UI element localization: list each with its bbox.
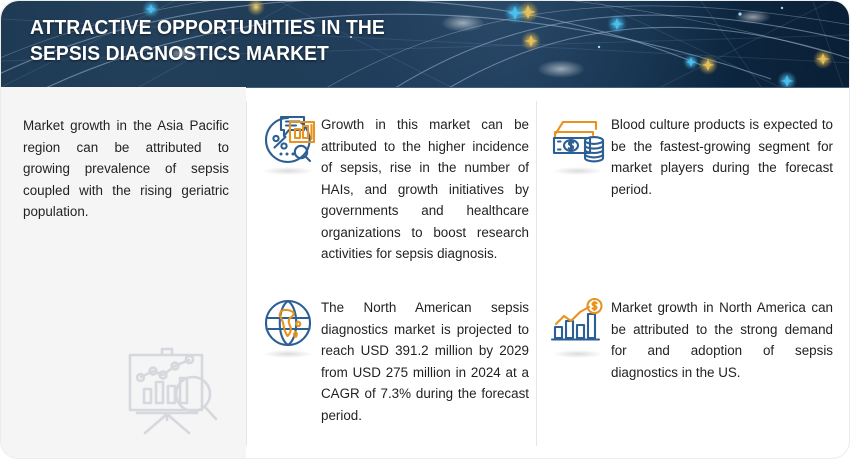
- header-banner: ATTRACTIVE OPPORTUNITIES IN THE SEPSIS D…: [1, 1, 850, 88]
- asia-pacific-paragraph: Market growth in the Asia Pacific region…: [23, 115, 229, 223]
- insight-text-blood-culture: Blood culture products is expected to be…: [611, 114, 833, 200]
- column-divider-1: [246, 101, 247, 446]
- icon-shadow: [263, 350, 313, 358]
- page-title: ATTRACTIVE OPPORTUNITIES IN THE SEPSIS D…: [30, 15, 425, 67]
- column-divider-2: [536, 101, 537, 446]
- icon-shadow: [553, 350, 603, 358]
- icon-shadow: [553, 167, 603, 175]
- insight-text-north-america-forecast: The North American sepsis diagnostics ma…: [321, 297, 529, 426]
- money-cash-coins-icon: [549, 111, 607, 169]
- globe-icon: [259, 294, 317, 352]
- bar-chart-growth-dollar-icon: [549, 294, 607, 352]
- insight-text-north-america-growth: Market growth in North America can be at…: [611, 297, 833, 383]
- icon-shadow: [263, 167, 313, 175]
- asia-pacific-panel: Market growth in the Asia Pacific region…: [1, 87, 246, 459]
- infographic-card: ATTRACTIVE OPPORTUNITIES IN THE SEPSIS D…: [0, 0, 850, 459]
- insight-text-growth: Growth in this market can be attributed …: [321, 114, 529, 265]
- pie-chart-analytics-icon: [259, 111, 317, 169]
- presentation-chart-magnifier-icon: [119, 338, 223, 438]
